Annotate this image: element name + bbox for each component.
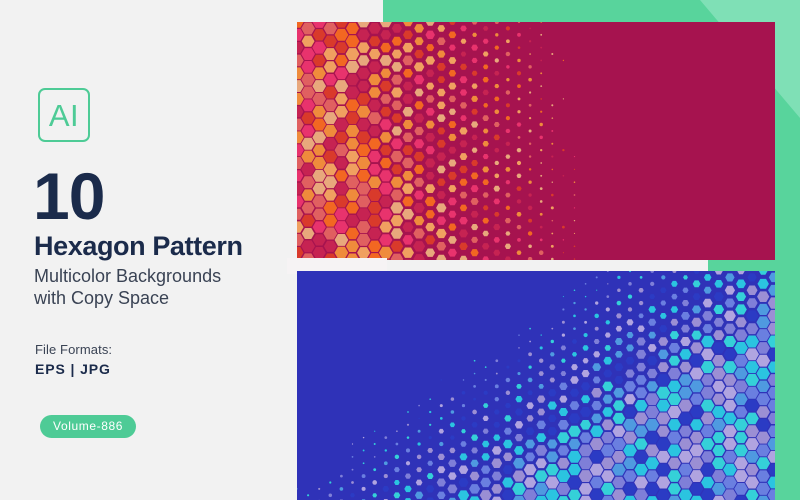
- blue-hexagon-preview[interactable]: [297, 271, 775, 500]
- file-formats-value: EPS | JPG: [35, 361, 111, 377]
- ai-badge-label: AI: [49, 100, 79, 131]
- poster-canvas: AI 10 Hexagon Pattern Multicolor Backgro…: [0, 0, 800, 500]
- page-title: Hexagon Pattern: [34, 233, 243, 260]
- blue-hexagon-pattern: [297, 271, 775, 500]
- file-formats-label: File Formats:: [35, 342, 112, 357]
- ai-format-badge: AI: [38, 88, 90, 142]
- page-subtitle-line-1: Multicolor Backgrounds: [34, 266, 221, 287]
- volume-badge: Volume-886: [40, 415, 136, 438]
- crimson-hexagon-preview[interactable]: [297, 22, 775, 260]
- info-column: AI 10 Hexagon Pattern Multicolor Backgro…: [0, 0, 297, 500]
- crimson-hexagon-pattern: [297, 22, 775, 260]
- page-subtitle-line-2: with Copy Space: [34, 288, 169, 309]
- item-count: 10: [33, 163, 104, 229]
